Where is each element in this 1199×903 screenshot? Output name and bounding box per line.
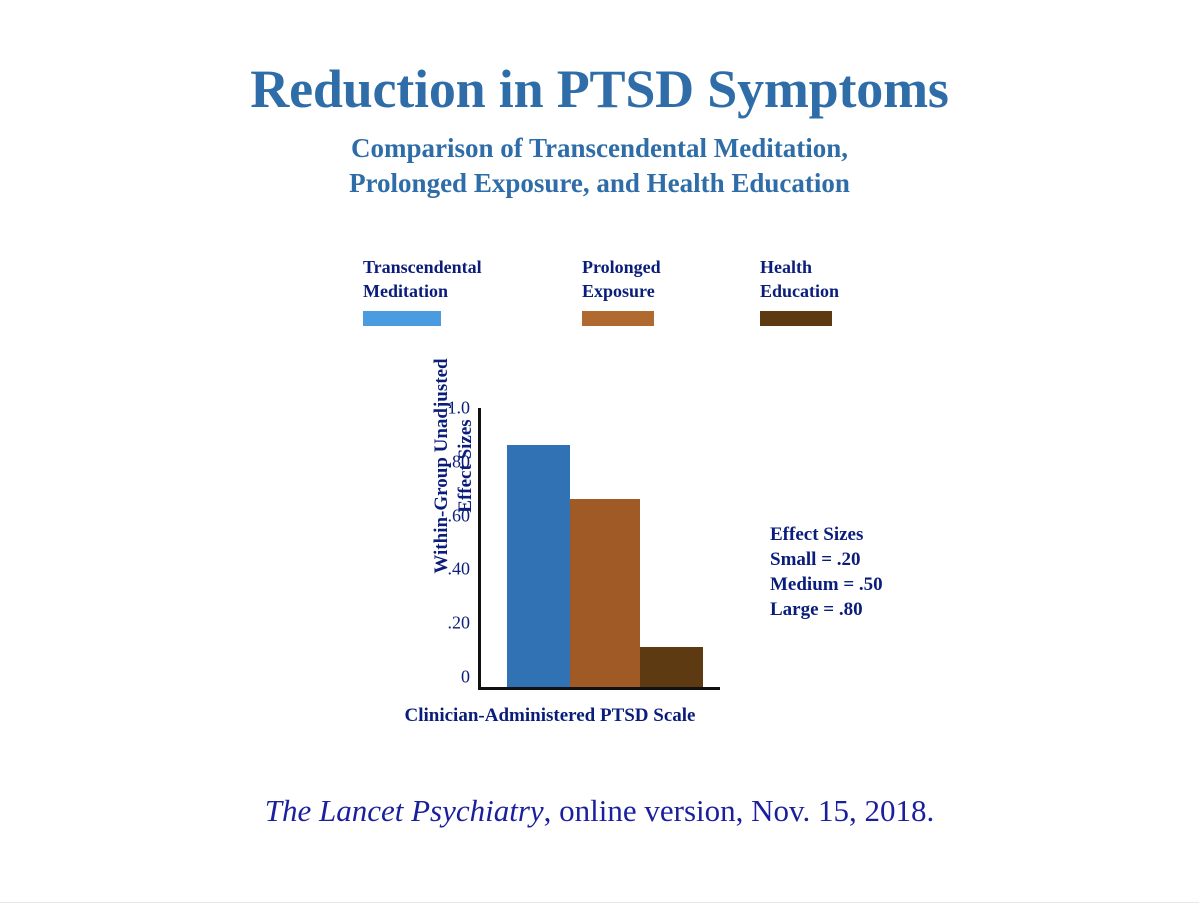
y-tick-label: 0: [461, 667, 470, 688]
y-tick-label: 1.0: [448, 398, 471, 419]
legend-label-line-1: Health: [760, 255, 839, 279]
page-title: Reduction in PTSD Symptoms: [0, 62, 1199, 117]
legend-label-line-2: Exposure: [582, 279, 661, 303]
subtitle-line-2: Prolonged Exposure, and Health Education: [0, 166, 1199, 201]
legend-item-prolonged-exposure: Prolonged Exposure: [582, 255, 661, 326]
effect-size-annotation: Effect Sizes Small = .20 Medium = .50 La…: [770, 522, 883, 622]
legend-item-health-education: Health Education: [760, 255, 839, 326]
x-axis-line: [478, 687, 720, 690]
annotation-small: Small = .20: [770, 547, 883, 572]
y-tick-label: .40: [448, 559, 471, 580]
subtitle-line-1: Comparison of Transcendental Meditation,: [0, 131, 1199, 166]
plot-area: [478, 408, 728, 690]
legend-label-line-1: Prolonged: [582, 255, 661, 279]
legend-swatch-health-education: [760, 311, 832, 326]
bar-chart: Within-Group Unadjusted Effect Sizes 1.0…: [370, 400, 730, 700]
annotation-medium: Medium = .50: [770, 572, 883, 597]
citation-rest: , online version, Nov. 15, 2018.: [544, 793, 935, 828]
y-axis-line: [478, 408, 481, 689]
bar-0: [507, 445, 570, 687]
legend-label-prolonged-exposure: Prolonged Exposure: [582, 255, 661, 304]
title-block: Reduction in PTSD Symptoms Comparison of…: [0, 62, 1199, 201]
y-tick-label: .80: [448, 451, 471, 472]
x-axis-title: Clinician-Administered PTSD Scale: [370, 705, 730, 727]
y-tick-label: .60: [448, 505, 471, 526]
legend-label-line-2: Education: [760, 279, 839, 303]
legend-label-line-1: Transcendental: [363, 255, 482, 279]
page-subtitle: Comparison of Transcendental Meditation,…: [0, 131, 1199, 201]
bar-2: [640, 647, 703, 687]
y-tick-label: .20: [448, 613, 471, 634]
bar-series: [507, 418, 703, 687]
legend-item-transcendental-meditation: Transcendental Meditation: [363, 255, 482, 326]
legend-label-line-2: Meditation: [363, 279, 482, 303]
source-citation: The Lancet Psychiatry, online version, N…: [0, 793, 1199, 829]
annotation-heading: Effect Sizes: [770, 522, 883, 547]
annotation-large: Large = .80: [770, 597, 883, 622]
slide-canvas: Reduction in PTSD Symptoms Comparison of…: [0, 0, 1199, 903]
bar-1: [570, 499, 640, 687]
y-axis-tick-labels: 1.0.80.60.40.200: [422, 400, 470, 700]
citation-journal: The Lancet Psychiatry: [265, 793, 544, 828]
legend-swatch-prolonged-exposure: [582, 311, 654, 326]
legend-label-transcendental-meditation: Transcendental Meditation: [363, 255, 482, 304]
legend-label-health-education: Health Education: [760, 255, 839, 304]
